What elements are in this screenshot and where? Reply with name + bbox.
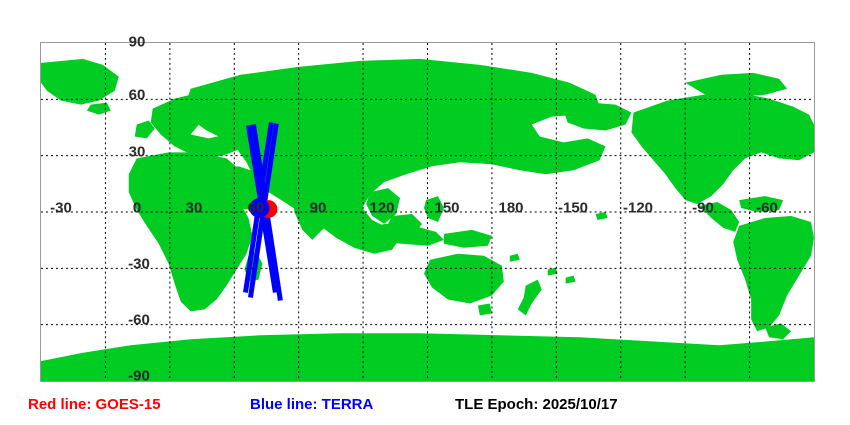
lat-tick-label-60: 60 xyxy=(129,88,146,103)
legend-footer: Red line: GOES-15 Blue line: TERRA TLE E… xyxy=(0,396,850,420)
land-tasmania xyxy=(478,303,492,315)
lat-tick-label--90: -90 xyxy=(128,369,150,384)
lat-tick-label-90: 90 xyxy=(129,35,146,50)
lon-tick-label--150: -150 xyxy=(558,201,588,216)
lon-tick-label-180: 180 xyxy=(498,201,523,216)
lon-tick-label-60: 60 xyxy=(248,201,265,216)
lat-tick-label-30: 30 xyxy=(129,145,146,160)
lon-tick-label-150: 150 xyxy=(434,201,459,216)
lon-tick-label-120: 120 xyxy=(369,201,394,216)
satellite-tracking-screen: -30 0 30 60 90 120 150 180 -150 -120 -90… xyxy=(0,0,850,425)
lon-tick-label--60: -60 xyxy=(756,201,778,216)
lat-tick-label--60: -60 xyxy=(128,313,150,328)
lat-tick-label-0: 0 xyxy=(133,201,141,216)
lon-tick-label--30: -30 xyxy=(50,201,72,216)
lon-tick-label-30: 30 xyxy=(186,201,203,216)
legend-tle-epoch: TLE Epoch: 2025/10/17 xyxy=(455,396,618,413)
lon-tick-label--90: -90 xyxy=(692,201,714,216)
lat-tick-label--30: -30 xyxy=(128,257,150,272)
legend-blue-line-terra: Blue line: TERRA xyxy=(250,396,373,413)
legend-red-line-goes15: Red line: GOES-15 xyxy=(28,396,161,413)
lon-tick-label--120: -120 xyxy=(623,201,653,216)
lon-tick-label-90: 90 xyxy=(310,201,327,216)
